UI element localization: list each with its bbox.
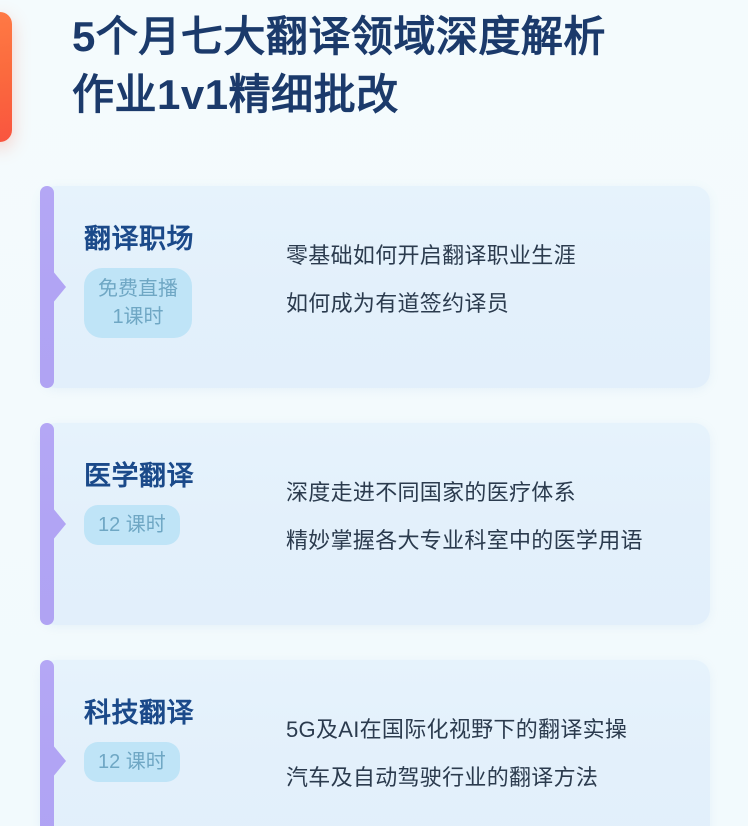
course-card[interactable]: 科技翻译 12 课时 5G及AI在国际化视野下的翻译实操 汽车及自动驾驶行业的翻… (40, 660, 710, 826)
card-description-group: 零基础如何开启翻译职业生涯 如何成为有道签约译员 (286, 232, 696, 328)
page-title-line-1: 5个月七大翻译领域深度解析 (72, 8, 722, 66)
card-chevron-icon (52, 507, 66, 541)
course-card[interactable]: 医学翻译 12 课时 深度走进不同国家的医疗体系 精妙掌握各大专业科室中的医学用… (40, 423, 710, 625)
course-promo-page: 5个月七大翻译领域深度解析 作业1v1精细批改 翻译职场 免费直播 1课时 零基… (0, 0, 748, 826)
course-card[interactable]: 翻译职场 免费直播 1课时 零基础如何开启翻译职业生涯 如何成为有道签约译员 (40, 186, 710, 388)
card-lesson-badge: 12 课时 (84, 505, 180, 545)
card-title: 翻译职场 (84, 222, 274, 256)
card-title: 科技翻译 (84, 696, 274, 730)
card-description-line: 深度走进不同国家的医疗体系 (286, 469, 696, 517)
card-title: 医学翻译 (84, 459, 274, 493)
card-chevron-icon (52, 744, 66, 778)
card-description-line: 5G及AI在国际化视野下的翻译实操 (286, 706, 696, 754)
card-description-line: 零基础如何开启翻译职业生涯 (286, 232, 696, 280)
card-heading-group: 翻译职场 免费直播 1课时 (84, 222, 274, 338)
card-heading-group: 科技翻译 12 课时 (84, 696, 274, 782)
card-description-group: 深度走进不同国家的医疗体系 精妙掌握各大专业科室中的医学用语 (286, 469, 696, 565)
course-card-list: 翻译职场 免费直播 1课时 零基础如何开启翻译职业生涯 如何成为有道签约译员 医… (0, 186, 748, 826)
card-lesson-badge: 12 课时 (84, 742, 180, 782)
card-accent-bar-icon (40, 660, 54, 826)
card-chevron-icon (52, 270, 66, 304)
card-description-line: 精妙掌握各大专业科室中的医学用语 (286, 517, 696, 565)
card-lesson-badge: 免费直播 1课时 (84, 268, 192, 338)
card-heading-group: 医学翻译 12 课时 (84, 459, 274, 545)
orange-accent-bar-icon (0, 12, 12, 142)
page-title: 5个月七大翻译领域深度解析 作业1v1精细批改 (72, 8, 722, 124)
card-description-group: 5G及AI在国际化视野下的翻译实操 汽车及自动驾驶行业的翻译方法 (286, 706, 696, 802)
page-header: 5个月七大翻译领域深度解析 作业1v1精细批改 (0, 0, 748, 170)
card-description-line: 如何成为有道签约译员 (286, 280, 696, 328)
card-description-line: 汽车及自动驾驶行业的翻译方法 (286, 754, 696, 802)
page-title-line-2: 作业1v1精细批改 (72, 66, 722, 124)
